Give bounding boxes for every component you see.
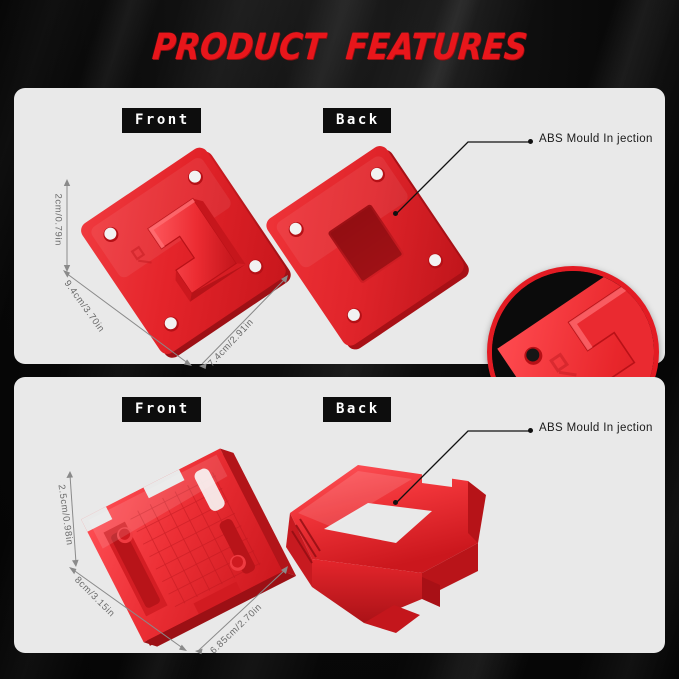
callout-leader-line (344, 395, 544, 525)
callout-end-dot (528, 428, 533, 433)
page-title: PRODUCT FEATURES (151, 30, 529, 66)
feature-panel-mounting-plate: Front Back (14, 88, 665, 364)
page-title-bar: PRODUCT FEATURES (0, 0, 679, 86)
feature-panel-tool-bracket: Front Back (14, 377, 665, 653)
dimension-thickness: 2cm/0.79in (53, 194, 64, 246)
callout-leader-line (344, 106, 544, 236)
callout-end-dot (528, 139, 533, 144)
callout-label-abs-mould: ABS Mould In jection (539, 133, 653, 145)
callout-label-abs-mould: ABS Mould In jection (539, 422, 653, 434)
callout-anchor-dot (393, 211, 398, 216)
callout-anchor-dot (393, 500, 398, 505)
